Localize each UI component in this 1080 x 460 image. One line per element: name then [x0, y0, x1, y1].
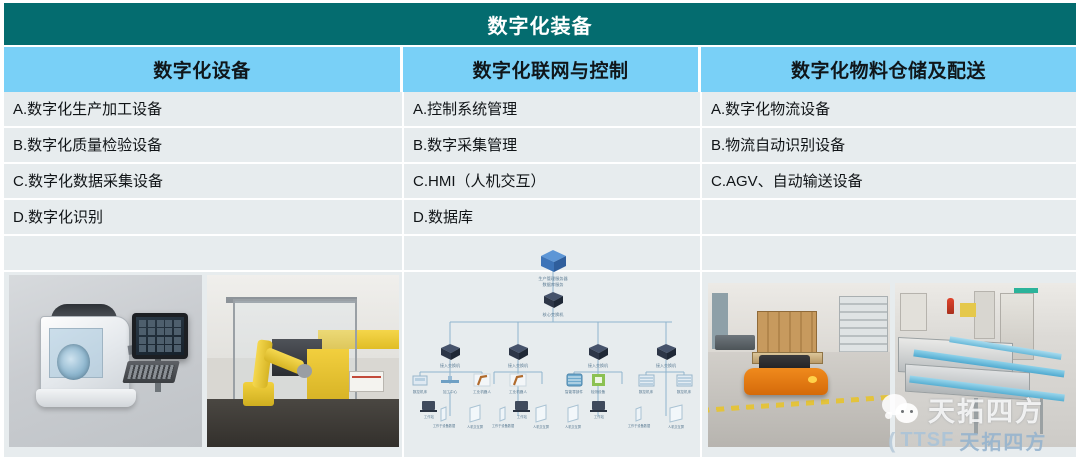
list-item-spacer — [4, 236, 402, 272]
cnc-keyboard — [122, 361, 180, 383]
agv-photo — [708, 283, 890, 447]
robot-arm-icon — [510, 374, 526, 386]
column-header-label: 数字化设备 — [153, 56, 251, 83]
svg-text:人机交互屏: 人机交互屏 — [668, 424, 685, 429]
hmi-terminal-icon — [500, 407, 505, 421]
access-switch-icon — [441, 344, 460, 360]
robot-arm-icon — [474, 374, 490, 386]
io-module-icon — [592, 374, 605, 386]
factory-network-topology-diagram: 生产管理服务器 数据库服务 核心交换机 接入交换 — [408, 230, 698, 450]
cell-floor — [207, 399, 400, 447]
logistics-photo-strip — [708, 283, 1076, 447]
cardboard-boxes — [757, 311, 817, 354]
control-cabinet-b — [974, 291, 994, 339]
svg-text:工业机器人: 工业机器人 — [473, 389, 491, 394]
conveyor-leg — [1040, 398, 1044, 434]
slide-root: 数字化装备 数字化设备 数字化联网与控制 数字化物料仓储及配送 A.数字化生产加… — [0, 0, 1080, 460]
plc-controller-icon — [567, 374, 582, 386]
svg-text:加工中心: 加工中心 — [443, 389, 458, 394]
workstation-icon — [513, 401, 530, 412]
hmi-terminal-icon — [441, 407, 446, 421]
svg-text:人机交互屏: 人机交互屏 — [533, 424, 550, 429]
machine-tool-icon — [677, 375, 692, 386]
column-header-networking: 数字化联网与控制 — [403, 47, 698, 92]
cnc-hmi-screen — [136, 317, 184, 355]
page-title: 数字化装备 — [488, 10, 593, 39]
machine-warning-label — [349, 371, 384, 392]
list-item: D.数字化识别 — [4, 200, 402, 236]
conveyor-leg — [974, 398, 978, 434]
yellow-machine-module — [960, 303, 976, 318]
list-item: C.AGV、自动输送设备 — [702, 164, 1076, 200]
content-area: A.数字化生产加工设备 B.数字化质量检验设备 C.数字化数据采集设备 D.数字… — [4, 92, 1076, 457]
svg-text:人机交互屏: 人机交互屏 — [565, 424, 582, 429]
column-header-label: 数字化物料仓储及配送 — [791, 56, 986, 83]
svg-text:数控机床: 数控机床 — [413, 389, 428, 394]
svg-text:接入交换机: 接入交换机 — [508, 362, 528, 368]
svg-text:数控机床: 数控机床 — [677, 389, 692, 394]
list-item: C.HMI（人机交互） — [404, 164, 700, 200]
svg-text:核心交换机: 核心交换机 — [543, 311, 565, 318]
agv-indicator-light — [808, 376, 817, 383]
column-header-equipment: 数字化设备 — [4, 47, 400, 92]
list-item: B.物流自动识别设备 — [702, 128, 1076, 164]
machine-tool-icon — [639, 375, 654, 386]
cnc-spindle — [57, 344, 90, 380]
core-switch-icon — [544, 292, 563, 308]
cnc-hmi-panel — [132, 313, 188, 359]
workstation-icon — [590, 401, 607, 412]
svg-text:数控机床: 数控机床 — [639, 389, 654, 394]
svg-text:工作于设备数据: 工作于设备数据 — [628, 423, 651, 428]
list-item: B.数字化质量检验设备 — [4, 128, 402, 164]
hmi-terminal-icon — [470, 405, 480, 422]
column-networking: A.控制系统管理 B.数字采集管理 C.HMI（人机交互） D.数据库 — [402, 92, 700, 457]
storage-rack — [839, 296, 888, 360]
bullet-list: A.数字化生产加工设备 B.数字化质量检验设备 C.数字化数据采集设备 D.数字… — [4, 92, 402, 272]
svg-text:工业机器人: 工业机器人 — [509, 389, 527, 394]
svg-text:工作站: 工作站 — [517, 414, 528, 419]
svg-text:智能零部件: 智能零部件 — [565, 389, 583, 394]
hmi-terminal-icon — [670, 405, 682, 422]
svg-text:接入交换机: 接入交换机 — [656, 362, 676, 368]
bullet-list: A.数字化物流设备 B.物流自动识别设备 C.AGV、自动输送设备 — [702, 92, 1076, 272]
access-switch-icon — [589, 344, 608, 360]
column-header-logistics: 数字化物料仓储及配送 — [701, 47, 1076, 92]
svg-text:工作站: 工作站 — [594, 414, 605, 419]
access-switch-icon — [657, 344, 676, 360]
svg-text:检测设备: 检测设备 — [591, 389, 606, 394]
hand-cart — [715, 335, 755, 350]
list-item: A.控制系统管理 — [404, 92, 700, 128]
list-item-spacer — [702, 236, 1076, 272]
svg-text:接入交换机: 接入交换机 — [588, 362, 608, 368]
machine-tool-icon — [413, 376, 427, 385]
cnc-base — [36, 389, 136, 408]
column-equipment: A.数字化生产加工设备 B.数字化质量检验设备 C.数字化数据采集设备 D.数字… — [4, 92, 402, 457]
list-item: A.数字化生产加工设备 — [4, 92, 402, 128]
server-icon — [541, 250, 566, 272]
alarm-beacon — [947, 298, 954, 314]
hmi-terminal-icon — [568, 405, 578, 422]
control-cabinet-a — [900, 293, 927, 331]
cnc-machine-photo — [9, 275, 202, 447]
workstation-icon — [420, 401, 437, 412]
list-item: C.数字化数据采集设备 — [4, 164, 402, 200]
list-item: B.数字采集管理 — [404, 128, 700, 164]
svg-text:人机交互屏: 人机交互屏 — [467, 424, 484, 429]
conveyor-line-photo — [895, 283, 1077, 447]
slide-title-bar: 数字化装备 — [4, 3, 1076, 45]
column-header-row: 数字化设备 数字化联网与控制 数字化物料仓储及配送 — [4, 47, 1076, 92]
hmi-terminal-icon — [636, 407, 641, 421]
svg-text:接入交换机: 接入交换机 — [440, 362, 460, 368]
robot-cell-photo — [207, 275, 400, 447]
svg-text:工作于设备数据: 工作于设备数据 — [433, 423, 456, 428]
machine-tool-icon — [441, 376, 459, 383]
svg-text:数据库服务: 数据库服务 — [543, 281, 565, 288]
hmi-terminal-icon — [536, 405, 546, 422]
equipment-photo-strip — [9, 275, 399, 447]
access-switch-icon — [509, 344, 528, 360]
svg-text:生产管理服务器: 生产管理服务器 — [538, 275, 568, 282]
list-item: A.数字化物流设备 — [702, 92, 1076, 128]
svg-text:工作站: 工作站 — [424, 414, 435, 419]
list-item-spacer — [702, 200, 1076, 236]
svg-text:工作于设备数据: 工作于设备数据 — [492, 423, 515, 428]
column-logistics: A.数字化物流设备 B.物流自动识别设备 C.AGV、自动输送设备 — [700, 92, 1076, 457]
column-header-label: 数字化联网与控制 — [472, 56, 628, 83]
